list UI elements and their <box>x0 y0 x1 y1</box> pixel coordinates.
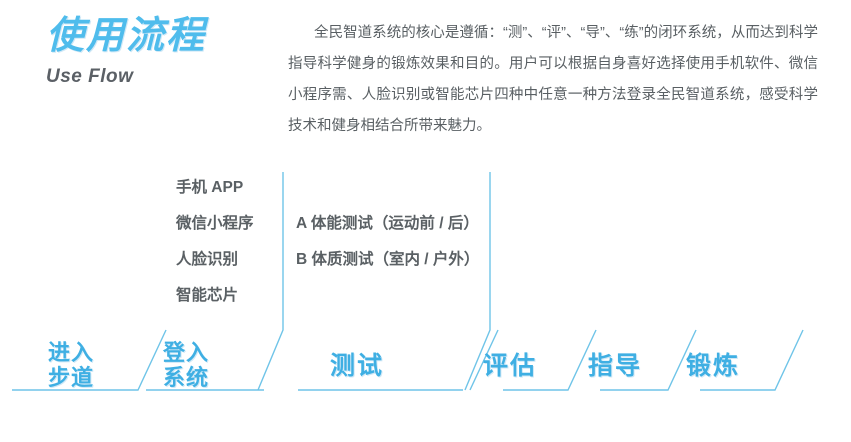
flow-step-line: 进入 <box>48 340 94 365</box>
intro-text: 全民智道系统的核心是遵循：“测”、“评”、“导”、“练”的闭环系统，从而达到科学… <box>288 25 818 134</box>
login-options-list: 手机 APP 微信小程序 人脸识别 智能芯片 <box>176 170 276 314</box>
page-subtitle: Use Flow <box>46 66 296 88</box>
flow-step-line: 步道 <box>48 365 94 390</box>
list-item: 手机 APP <box>176 170 276 206</box>
flow-step-band: 进入 步道 登入 系统 测试 评估 指导 锻炼 <box>0 318 851 408</box>
flow-step-test: 测试 <box>330 352 384 380</box>
list-item: 微信小程序 <box>176 206 276 242</box>
flow-step-login-system: 登入 系统 <box>163 340 209 390</box>
page-title: 使用流程 <box>46 14 296 58</box>
flow-step-line: 系统 <box>163 365 209 390</box>
flow-step-guide: 指导 <box>588 352 642 380</box>
flow-step-exercise: 锻炼 <box>686 352 740 380</box>
list-item: B 体质测试（室内 / 户外） <box>296 242 496 278</box>
page-title-block: 使用流程 Use Flow <box>46 14 296 88</box>
list-item: 人脸识别 <box>176 242 276 278</box>
test-type-list: A 体能测试（运动前 / 后） B 体质测试（室内 / 户外） <box>296 206 496 278</box>
list-item: A 体能测试（运动前 / 后） <box>296 206 496 242</box>
flow-step-enter-trail: 进入 步道 <box>48 340 94 390</box>
intro-paragraph: 全民智道系统的核心是遵循：“测”、“评”、“导”、“练”的闭环系统，从而达到科学… <box>288 18 818 142</box>
list-item: 智能芯片 <box>176 278 276 314</box>
flow-step-evaluate: 评估 <box>483 352 537 380</box>
flow-step-line: 登入 <box>163 340 209 365</box>
